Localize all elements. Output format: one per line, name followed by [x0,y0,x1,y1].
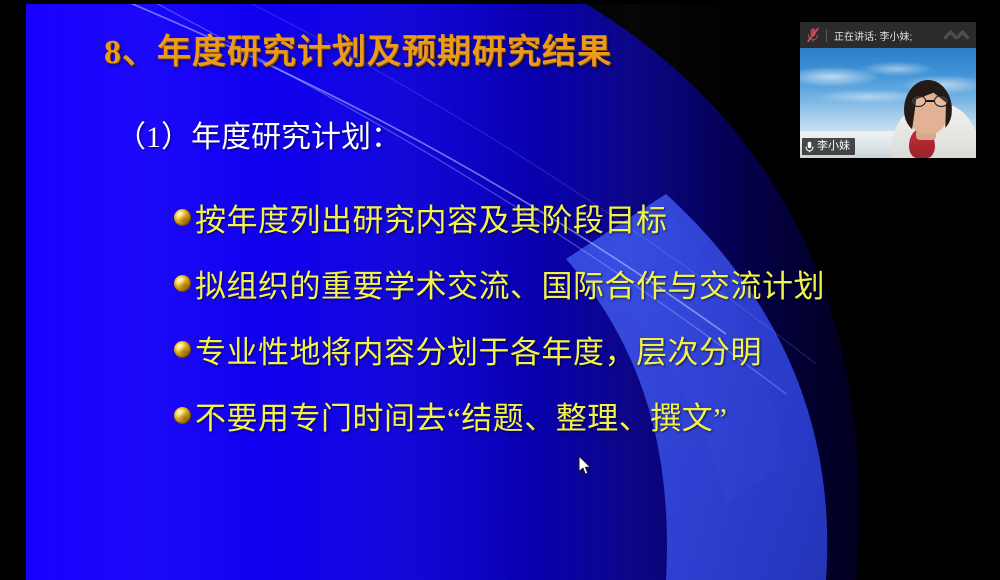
list-item: 按年度列出研究内容及其阶段目标 [174,184,964,250]
titlebar-divider [826,29,827,42]
slide-bullet-list: 按年度列出研究内容及其阶段目标 拟组织的重要学术交流、国际合作与交流计划 专业性… [174,184,964,448]
video-panel-titlebar[interactable]: 正在讲话: 李小妹; [800,22,976,48]
participant-glasses [911,95,949,107]
gold-sphere-bullet-icon [174,275,191,292]
list-item-label: 按年度列出研究内容及其阶段目标 [195,195,668,240]
list-item: 不要用专门时间去“结题、整理、撰文” [174,382,964,448]
participant-nametag: 李小妹 [802,138,855,155]
gold-sphere-bullet-icon [174,407,191,424]
list-item-label: 专业性地将内容分划于各年度，层次分明 [195,327,762,372]
microphone-icon [805,141,814,153]
glasses-lens-left [911,95,926,107]
gold-sphere-bullet-icon [174,341,191,358]
gold-sphere-bullet-icon [174,209,191,226]
speaking-status-label: 正在讲话: 李小妹; [834,28,940,43]
video-feed[interactable]: 李小妹 [800,48,976,158]
list-item: 拟组织的重要学术交流、国际合作与交流计划 [174,250,964,316]
glasses-lens-right [934,95,949,107]
participant-name-label: 李小妹 [817,141,850,152]
screen: 8、年度研究计划及预期研究结果 （1）年度研究计划： 按年度列出研究内容及其阶段… [0,0,1000,580]
double-chevron-up-icon[interactable] [944,29,970,41]
video-conference-panel[interactable]: 正在讲话: 李小妹; [800,22,976,158]
list-item: 专业性地将内容分划于各年度，层次分明 [174,316,964,382]
list-item-label: 不要用专门时间去“结题、整理、撰文” [195,393,728,438]
slide-subheading: （1）年度研究计划： [116,112,401,156]
mic-muted-icon[interactable] [806,27,820,43]
glasses-bridge [926,100,934,101]
list-item-label: 拟组织的重要学术交流、国际合作与交流计划 [195,261,825,306]
slide-title: 8、年度研究计划及预期研究结果 [104,24,804,73]
